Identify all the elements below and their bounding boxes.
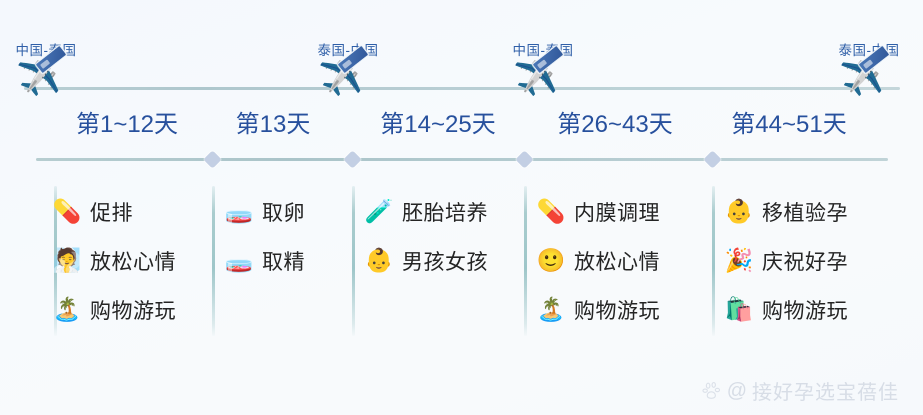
stage-item-label: 取精 [256, 246, 305, 276]
party-popper-icon: 🎉 [722, 249, 756, 272]
stage-column: 🧪胚胎培养👶男孩女孩 [362, 183, 524, 338]
pill-icon: 💊 [534, 200, 568, 223]
stage-column: 💊内膜调理🙂放松心情🏝️购物游玩 [534, 183, 712, 338]
rail-node [515, 150, 533, 168]
stage-item: 💊促排 [50, 187, 210, 236]
segment-day-label: 第26~43天 [525, 108, 705, 142]
infographic-canvas: 中国-泰国✈️泰国-中国✈️中国-泰国✈️泰国-中国✈️ 第1~12天第13天第… [0, 0, 923, 415]
baby-icon: 👶 [362, 249, 396, 272]
smiling-face-icon: 🙂 [534, 249, 568, 272]
rail-node [343, 150, 361, 168]
stage-item: 🏝️购物游玩 [50, 285, 210, 334]
test-tube-icon: 🧪 [362, 200, 396, 223]
segment-day-label: 第14~25天 [348, 108, 528, 142]
petri-dish-icon: 🧫 [222, 200, 256, 223]
stage-item-label: 购物游玩 [568, 295, 660, 325]
flight-route-label: 泰国-中国 [809, 44, 923, 58]
desert-island-icon: 🏝️ [50, 298, 84, 321]
stage-item-label: 庆祝好孕 [756, 246, 848, 276]
baidu-paw-icon [702, 380, 723, 401]
flight-route-line [24, 87, 900, 90]
stage-item: 🙂放松心情 [534, 236, 712, 285]
baby-icon: 👶 [722, 200, 756, 223]
watermark-at-symbol: @ [727, 381, 748, 401]
stage-column: 👶移植验孕🎉庆祝好孕🛍️购物游玩 [722, 183, 898, 338]
person-in-steamy-room-icon: 🧖 [50, 249, 84, 272]
stage-item: 🏝️购物游玩 [534, 285, 712, 334]
segment-day-label: 第44~51天 [699, 108, 879, 142]
stage-item: 👶男孩女孩 [362, 236, 524, 285]
airplane-icon: ✈️ [320, 59, 376, 99]
stage-item-label: 胚胎培养 [396, 197, 488, 227]
watermark: @ 接好孕选宝蓓佳 [702, 376, 899, 405]
stage-item-label: 放松心情 [568, 246, 660, 276]
stage-item-list: 🧫取卵🧫取精 [222, 187, 352, 285]
segment-day-label: 第13天 [183, 108, 363, 142]
desert-island-icon: 🏝️ [534, 298, 568, 321]
stage-item-label: 放松心情 [84, 246, 176, 276]
stage-item: 🧫取卵 [222, 187, 352, 236]
airplane-icon: ✈️ [841, 59, 897, 99]
stage-item: 🧫取精 [222, 236, 352, 285]
stage-item-label: 内膜调理 [568, 197, 660, 227]
stage-item-list: 💊内膜调理🙂放松心情🏝️购物游玩 [534, 187, 712, 334]
stage-item: 👶移植验孕 [722, 187, 898, 236]
watermark-text: 接好孕选宝蓓佳 [752, 376, 899, 405]
day-label-group: 第1~12天第13天第14~25天第26~43天第44~51天 [0, 108, 923, 142]
stage-item: 🛍️购物游玩 [722, 285, 898, 334]
stage-item-label: 取卵 [256, 197, 305, 227]
stage-item-label: 购物游玩 [84, 295, 176, 325]
stage-item-label: 促排 [84, 197, 133, 227]
column-divider [712, 186, 715, 336]
airplane-icon: ✈️ [18, 59, 74, 99]
pill-icon: 💊 [50, 200, 84, 223]
rail-node [203, 150, 221, 168]
stage-item: 🧖放松心情 [50, 236, 210, 285]
airplane-icon: ✈️ [515, 59, 571, 99]
stage-column: 🧫取卵🧫取精 [222, 183, 352, 338]
stage-item-list: 👶移植验孕🎉庆祝好孕🛍️购物游玩 [722, 187, 898, 334]
column-divider [524, 186, 527, 336]
flight-marker: 泰国-中国✈️ [288, 44, 408, 99]
petri-dish-icon: 🧫 [222, 249, 256, 272]
flight-marker: 中国-泰国✈️ [0, 44, 106, 99]
flight-marker: 泰国-中国✈️ [809, 44, 923, 99]
stage-item-label: 移植验孕 [756, 197, 848, 227]
column-divider [352, 186, 355, 336]
stage-item: 💊内膜调理 [534, 187, 712, 236]
stage-rail [36, 158, 888, 161]
rail-node [703, 150, 721, 168]
stage-column: 💊促排🧖放松心情🏝️购物游玩 [50, 183, 210, 338]
stage-item: 🧪胚胎培养 [362, 187, 524, 236]
stage-item-label: 购物游玩 [756, 295, 848, 325]
stage-item-list: 🧪胚胎培养👶男孩女孩 [362, 187, 524, 285]
stage-item-list: 💊促排🧖放松心情🏝️购物游玩 [50, 187, 210, 334]
shopping-bags-icon: 🛍️ [722, 298, 756, 321]
flight-marker: 中国-泰国✈️ [483, 44, 603, 99]
stage-column-group: 💊促排🧖放松心情🏝️购物游玩🧫取卵🧫取精🧪胚胎培养👶男孩女孩💊内膜调理🙂放松心情… [0, 183, 923, 338]
stage-item-label: 男孩女孩 [396, 246, 488, 276]
column-divider [212, 186, 215, 336]
stage-item: 🎉庆祝好孕 [722, 236, 898, 285]
